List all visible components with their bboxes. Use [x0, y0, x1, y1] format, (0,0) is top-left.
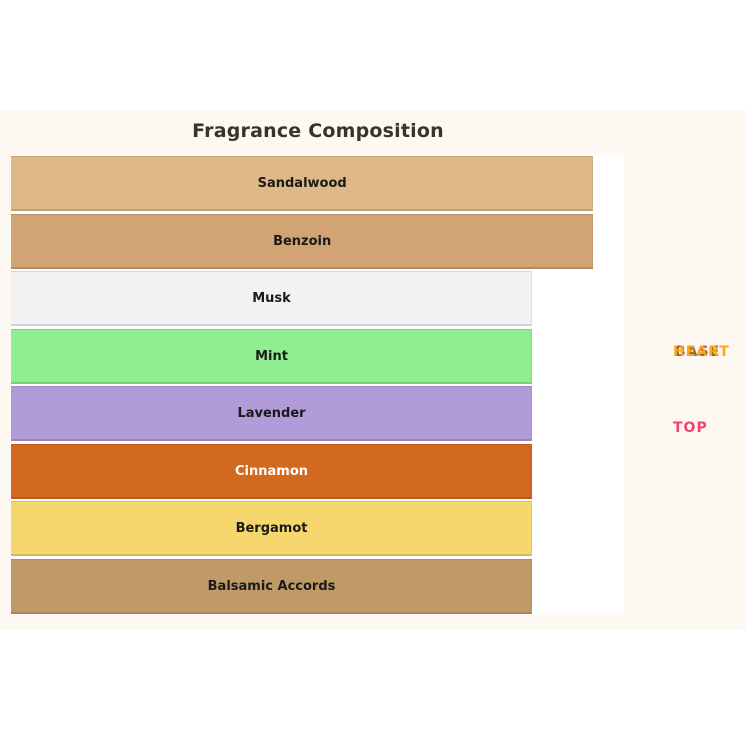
side-label-top: TOP — [673, 420, 708, 436]
bar-row: Lavender — [11, 385, 624, 443]
bar-row: Sandalwood — [11, 155, 624, 213]
chart-title: Fragrance Composition — [0, 120, 636, 142]
bar-label: Lavender — [11, 385, 532, 443]
bar-row: Balsamic Accords — [11, 558, 624, 616]
bar-row: Cinnamon — [11, 443, 624, 501]
side-label-heart: HEART — [673, 344, 730, 360]
bar-row: Mint — [11, 328, 624, 386]
bar-row: Bergamot — [11, 500, 624, 558]
bar-label: Sandalwood — [11, 155, 593, 213]
plot-area: SandalwoodBenzoinMuskMintLavenderCinnamo… — [11, 155, 624, 615]
bar-label: Balsamic Accords — [11, 558, 532, 616]
bar-label: Musk — [11, 270, 532, 328]
bar-label: Mint — [11, 328, 532, 386]
bar-label: Benzoin — [11, 213, 593, 271]
chart-figure: Fragrance Composition SandalwoodBenzoinM… — [0, 110, 746, 630]
bar-row: Musk — [11, 270, 624, 328]
bar-label: Bergamot — [11, 500, 532, 558]
bar-label: Cinnamon — [11, 443, 532, 501]
bar-row: Benzoin — [11, 213, 624, 271]
